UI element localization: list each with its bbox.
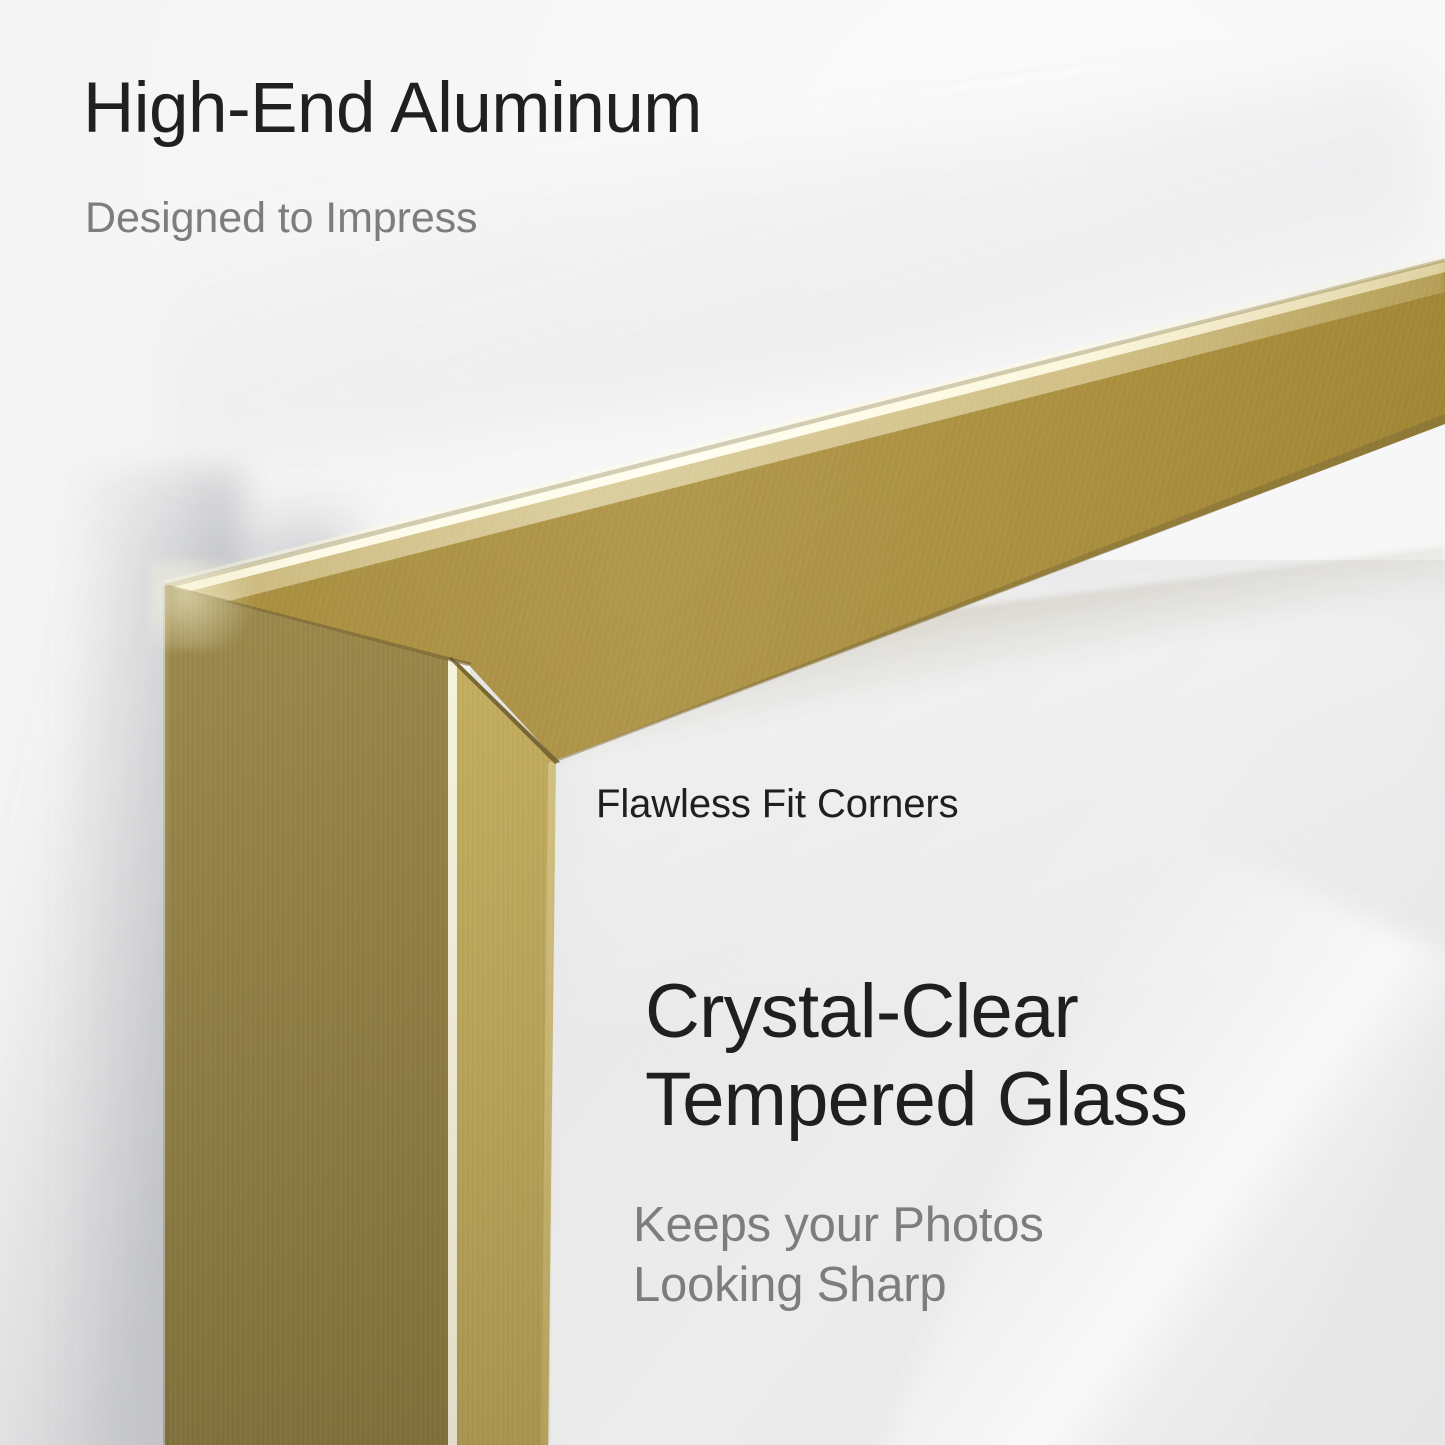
page-subheadline: Designed to Impress — [85, 194, 477, 243]
page-headline: High-End Aluminum — [83, 72, 702, 146]
glass-rebate-left — [545, 735, 550, 1445]
glass-feature-subtext-line-1: Keeps your Photos — [633, 1196, 1044, 1256]
glass-feature-heading-line-2: Tempered Glass — [645, 1056, 1187, 1144]
product-feature-image: High-End Aluminum Designed to Impress Fl… — [0, 0, 1445, 1445]
glass-feature-heading-line-1: Crystal-Clear — [645, 968, 1187, 1056]
glass-feature-subtext: Keeps your Photos Looking Sharp — [633, 1196, 1044, 1316]
corner-caption: Flawless Fit Corners — [596, 782, 959, 827]
glass-feature-heading: Crystal-Clear Tempered Glass — [645, 968, 1187, 1144]
glass-feature-subtext-line-2: Looking Sharp — [633, 1256, 1044, 1316]
